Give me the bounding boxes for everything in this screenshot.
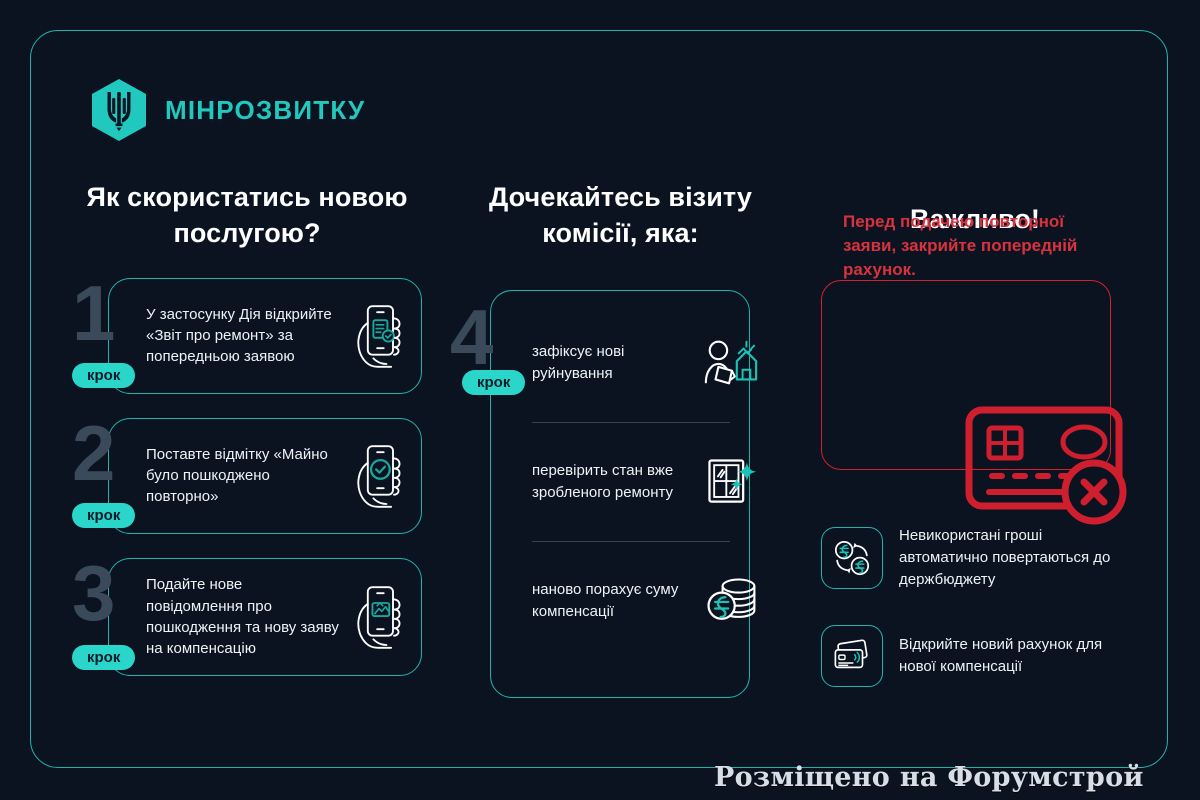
step-card-2: 2 крок Поставте відмітку «Майно було пош… — [72, 418, 422, 534]
step-text-1: У застосунку Дія відкрийте «Звіт про рем… — [146, 304, 342, 368]
infographic-root: МІНРОЗВИТКУ Як скористатись новою послуг… — [0, 0, 1200, 800]
step-text-3: Подайте нове повідомлення про пошкодженн… — [146, 574, 342, 659]
step-card-3: 3 крок Подайте нове повідомлення про пош… — [72, 558, 422, 676]
step-card-1: 1 крок У застосунку Дія відкрийте «Звіт … — [72, 278, 422, 394]
inspector-damaged-house-icon — [700, 334, 762, 392]
note-item-2-text: Відкрийте новий рахунок для нової компен… — [899, 634, 1135, 678]
step-number-4: 4 — [450, 298, 491, 376]
hand-phone-document-icon — [348, 302, 410, 370]
commission-item-list: зафіксує нові руйнування — [532, 304, 762, 660]
hand-phone-damage-icon — [348, 583, 410, 651]
step-badge-3: крок — [72, 645, 135, 670]
trident-hexagon-icon — [90, 78, 148, 142]
step-badge-1: крок — [72, 363, 135, 388]
bank-card-close-icon — [963, 402, 1139, 532]
clean-window-sparkle-icon — [700, 453, 762, 511]
commission-item-2-text: перевірить стан вже зробленого ремонту — [532, 460, 690, 504]
alert-text: Перед подачею повторної заяви, закрийте … — [843, 210, 1083, 282]
hand-phone-check-icon — [348, 442, 410, 510]
step-number-1: 1 — [72, 274, 113, 352]
step-badge-4: крок — [462, 370, 525, 395]
hryvnia-coins-icon — [700, 572, 762, 630]
brand-name: МІНРОЗВИТКУ — [165, 95, 365, 126]
hryvnia-exchange-icon — [821, 527, 883, 589]
column-heading-left: Як скористатись новою послугою? — [72, 180, 422, 252]
column-important: Важливо! Перед подачею повторної заяви, … — [815, 180, 1135, 264]
step-text-2: Поставте відмітку «Майно було пошкоджено… — [146, 444, 342, 508]
column-how-to-use: Як скористатись новою послугою? 1 крок У… — [72, 180, 422, 700]
watermark-text: Розміщено на Форумстрой — [714, 762, 1144, 793]
note-item-1: Невикористані гроші автоматично повертаю… — [821, 525, 1135, 590]
commission-item-1-text: зафіксує нові руйнування — [532, 341, 690, 385]
commission-item-3-text: наново порахує суму компенсації — [532, 579, 690, 623]
note-item-2: Відкрийте новий рахунок для нової компен… — [821, 625, 1135, 687]
step-badge-2: крок — [72, 503, 135, 528]
contactless-bank-card-icon — [821, 625, 883, 687]
commission-item-3: наново порахує суму компенсації — [532, 542, 762, 660]
commission-item-1: зафіксує нові руйнування — [532, 304, 762, 422]
column-heading-middle: Дочекайтесь візиту комісії, яка: — [448, 180, 793, 252]
step-number-2: 2 — [72, 414, 113, 492]
column-commission-visit: Дочекайтесь візиту комісії, яка: 4 крок … — [448, 180, 793, 278]
step-number-3: 3 — [72, 554, 113, 632]
commission-item-2: перевірить стан вже зробленого ремонту — [532, 423, 762, 541]
note-item-1-text: Невикористані гроші автоматично повертаю… — [899, 525, 1135, 590]
brand-logo: МІНРОЗВИТКУ — [90, 78, 365, 142]
